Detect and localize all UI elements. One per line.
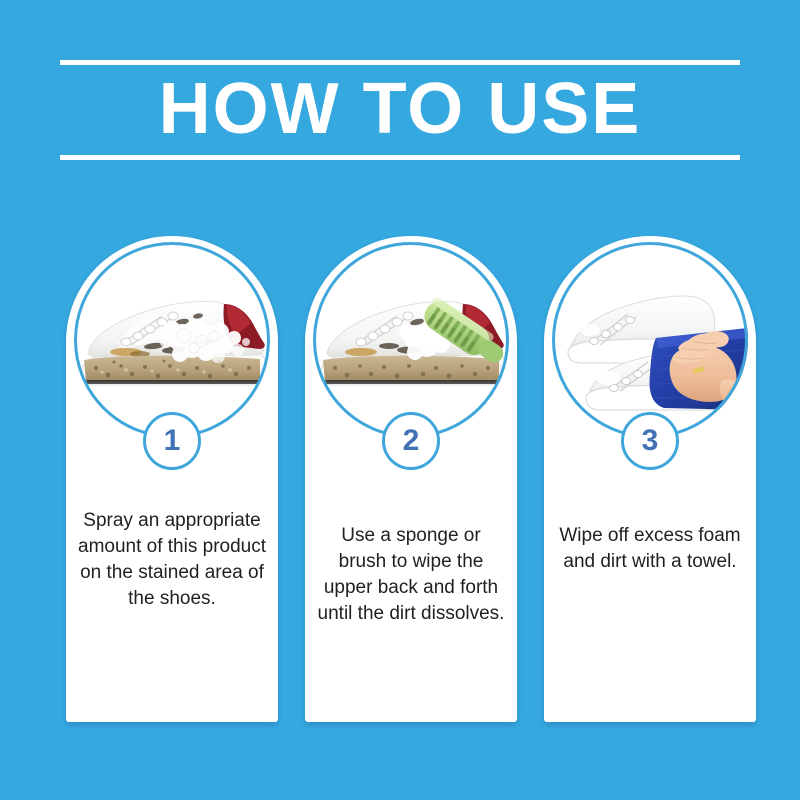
step-card-2: 2 Use a sponge or brush to wipe the uppe… bbox=[305, 236, 517, 722]
sneaker-with-brush-illustration bbox=[313, 242, 509, 438]
step-3-number: 3 bbox=[624, 415, 676, 467]
step-2-photo bbox=[313, 242, 509, 438]
step-1-photo bbox=[74, 242, 270, 438]
step-1-number-badge: 1 bbox=[143, 412, 201, 470]
step-card-3: 3 Wipe off excess foam and dirt with a t… bbox=[544, 236, 756, 722]
step-2-number: 2 bbox=[385, 415, 437, 467]
step-2-number-badge: 2 bbox=[382, 412, 440, 470]
step-3-number-badge: 3 bbox=[621, 412, 679, 470]
title-rule-bottom bbox=[60, 155, 740, 160]
dirty-sneaker-foam-illustration bbox=[74, 242, 270, 438]
step-card-1: 1 Spray an appropriate amount of this pr… bbox=[66, 236, 278, 722]
step-2-caption: Use a sponge or brush to wipe the upper … bbox=[317, 523, 505, 627]
infographic-poster: HOW TO USE bbox=[0, 0, 800, 800]
step-3-photo bbox=[552, 242, 748, 438]
header: HOW TO USE bbox=[60, 60, 740, 160]
clean-sneakers-towel-illustration bbox=[552, 242, 748, 438]
step-1-caption: Spray an appropriate amount of this prod… bbox=[78, 508, 266, 612]
step-1-number: 1 bbox=[146, 415, 198, 467]
step-3-caption: Wipe off excess foam and dirt with a tow… bbox=[556, 523, 744, 575]
page-title: HOW TO USE bbox=[60, 64, 740, 155]
steps-container: 1 Spray an appropriate amount of this pr… bbox=[66, 236, 756, 726]
